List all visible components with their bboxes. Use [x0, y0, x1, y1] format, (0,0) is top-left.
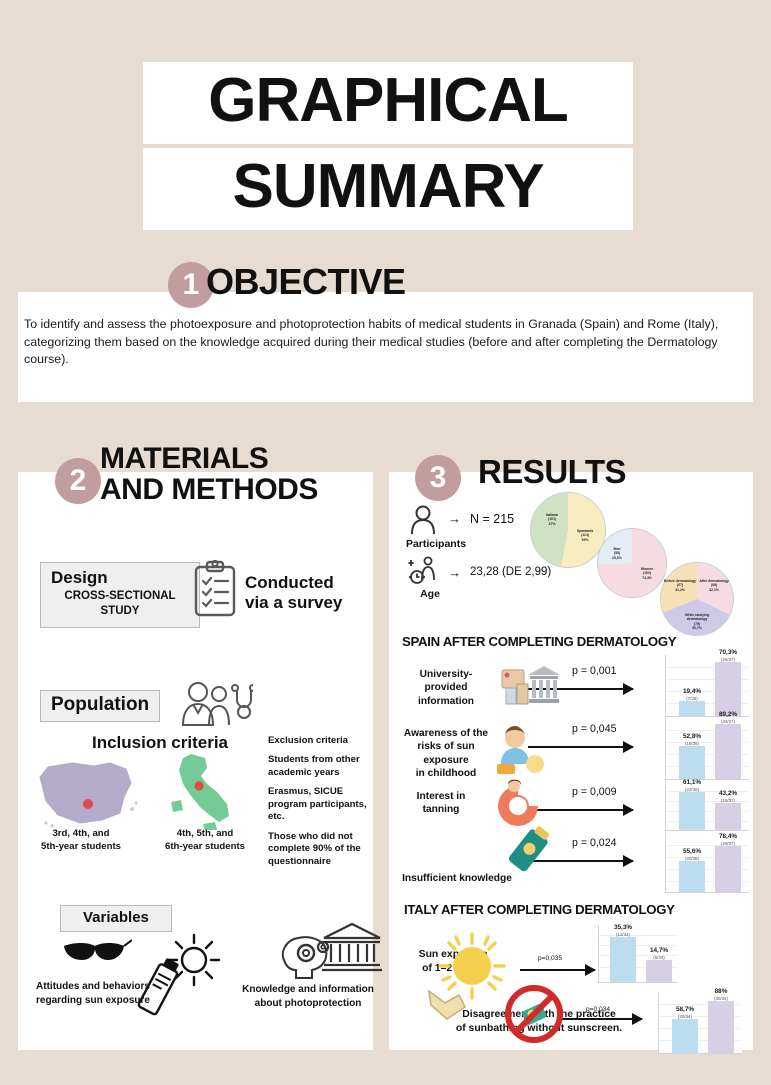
pie-slice-pct: 31,2%: [662, 588, 698, 592]
bar-value: 35,3%: [614, 924, 632, 931]
bar-value: 19,4%: [683, 688, 701, 695]
spain-results-title: SPAIN AFTER COMPLETING DERMATOLOGY: [402, 634, 676, 649]
arrow-icon: [520, 969, 595, 971]
sunglasses-icon: [62, 938, 132, 977]
participants-label: Participants: [396, 538, 476, 550]
variables-left-caption-line-1: Attitudes and behaviors: [18, 980, 168, 994]
university-books-icon: [500, 662, 562, 711]
spain-row-label-tanning: Interest in tanning: [398, 790, 484, 817]
design-chip-title: Design: [47, 568, 193, 588]
design-chip-sub-2: STUDY: [47, 604, 193, 618]
bar-before: 61,1% (22/36): [679, 792, 705, 830]
materials-heading-line-2: AND METHODS: [100, 474, 318, 505]
section-heading-objective: OBJECTIVE: [206, 261, 406, 303]
spain-caption: 3rd, 4th, and 5th-year students: [22, 828, 140, 854]
bar-chart-university-info: 19,4% (7/36) 70,3% (26/37): [665, 655, 749, 717]
p-value-italy-disagreement: p=0,034: [586, 1006, 610, 1013]
pie-slice-label: After dermatology (69) 32,1%: [697, 579, 731, 592]
bar-after: 89,2% (33/37): [715, 724, 741, 779]
spain-caption-line-2: 5th-year students: [22, 841, 140, 854]
label-line: University-: [398, 668, 494, 681]
sunscreen-tube-icon: [500, 826, 560, 885]
arrow-icon: [562, 1018, 642, 1020]
p-value-tanning: p = 0,009: [572, 786, 616, 798]
p-value-awareness: p = 0,045: [572, 723, 616, 735]
bar-chart-awareness: 52,8% (19/36) 89,2% (33/37): [665, 718, 749, 780]
label-line: provided: [398, 681, 494, 694]
exclusion-criteria-title: Exclusion criteria: [268, 735, 378, 747]
bar-count: (20/34): [678, 1014, 692, 1019]
pie-slice-pct: 32,1%: [697, 588, 731, 592]
bar-value: 58,7%: [676, 1006, 694, 1013]
participants-value: N = 215: [470, 512, 514, 526]
pie-slice-label: Spaniards (114) 53%: [569, 529, 601, 542]
italy-results-title: ITALY AFTER COMPLETING DERMATOLOGY: [404, 902, 675, 917]
exclusion-item: Erasmus, SICUE program participants, etc…: [268, 786, 378, 823]
bar-value: 43,2%: [719, 790, 737, 797]
italy-caption: 4th, 5th, and 6th-year students: [146, 828, 264, 854]
p-value-insufficient-knowledge: p = 0,024: [572, 837, 616, 849]
italy-map-icon: [155, 752, 247, 837]
pie-chart-sex: Men (55) 25,6% Women (160) 74,4%: [597, 528, 667, 598]
spain-row-label-awareness: Awareness of the risks of sun exposure i…: [396, 727, 496, 780]
bar-after: 70,3% (26/37): [715, 662, 741, 716]
pie-slice-pct: 47%: [537, 522, 567, 526]
italy-caption-line-1: 4th, 5th, and: [146, 828, 264, 841]
bar-before: 35,3% (12/34): [610, 937, 636, 982]
design-chip: Design CROSS-SECTIONAL STUDY: [40, 562, 200, 628]
p-value-university-info: p = 0,001: [572, 665, 616, 677]
bar-value: 14,7%: [650, 947, 668, 954]
bar-chart-tanning: 61,1% (22/36) 43,2% (16/37): [665, 781, 749, 831]
age-value: 23,28 (DE 2,99): [470, 566, 551, 578]
pie-slice-pct: 25,6%: [604, 556, 630, 560]
label-line: Interest in: [398, 790, 484, 803]
pie-slice-pct: 74,4%: [632, 576, 662, 580]
bar-count: (20/36): [685, 856, 699, 861]
graphical-summary-page: GRAPHICAL SUMMARY 1 OBJECTIVE To identif…: [0, 0, 771, 1085]
pie-slice-label: Before dermatology (67) 31,2%: [662, 579, 698, 592]
objective-body-text: To identify and assess the photoexposure…: [24, 316, 724, 369]
bar-count: (19/36): [685, 741, 699, 746]
bar-value: 89,2%: [719, 711, 737, 718]
pie-chart-dermatology-stage: After dermatology (69) 32,1% While study…: [660, 562, 734, 636]
population-chip: Population: [40, 690, 160, 722]
bar-count: (7/36): [686, 696, 697, 701]
variables-right-caption-line-1: Knowledge and information: [228, 983, 388, 997]
exclusion-item: Those who did not complete 90% of the qu…: [268, 831, 378, 868]
bar-after: 43,2% (16/37): [715, 803, 741, 830]
bar-before: 19,4% (7/36): [679, 701, 705, 716]
label-line: Awareness of the: [396, 727, 496, 740]
title-line-2: SUMMARY: [143, 148, 633, 230]
variables-right-caption: Knowledge and information about photopro…: [228, 983, 388, 1010]
bar-chart-italy-sun-exposure: 35,3% (12/34) 14,7% (5/34): [598, 925, 678, 983]
survey-line-1: Conducted: [245, 573, 365, 593]
spain-map-icon: [32, 757, 144, 834]
pie-slice-name: While studying dermatology: [677, 613, 717, 622]
bar-count: (29/37): [721, 841, 735, 846]
bar-before: 55,6% (20/36): [679, 861, 705, 892]
section-badge-2: 2: [55, 458, 101, 504]
age-clock-person-icon: [408, 556, 442, 591]
participant-person-icon: [410, 505, 436, 540]
design-chip-sub-1: CROSS-SECTIONAL: [47, 589, 193, 603]
pie-slice-label: While studying dermatology (79) 36,7%: [677, 613, 717, 631]
pie-slice-label: Men (55) 25,6%: [604, 547, 630, 560]
variables-right-caption-line-2: about photoprotection: [228, 997, 388, 1011]
bar-count: (5/34): [653, 955, 664, 960]
p-value-italy-sun-exposure: p=0,035: [538, 955, 562, 962]
section-heading-results: RESULTS: [478, 453, 626, 491]
exclusion-criteria-block: Exclusion criteria Students from other a…: [268, 735, 378, 875]
label-line: tanning: [398, 803, 484, 816]
spain-row-label-university-info: University- provided information: [398, 668, 494, 708]
bar-value: 55,6%: [683, 848, 701, 855]
bar-chart-italy-disagreement: 58,7% (20/34) 88% (30/34): [658, 992, 742, 1054]
bar-count: (12/34): [616, 932, 630, 937]
child-playing-sand-icon: [489, 722, 545, 783]
pie-slice-pct: 53%: [569, 538, 601, 542]
bar-count: (33/37): [721, 719, 735, 724]
poster-title: GRAPHICAL SUMMARY: [143, 62, 633, 230]
bar-after: 88% (30/34): [708, 1001, 734, 1053]
section-heading-materials: MATERIALS AND METHODS: [100, 443, 318, 505]
pie-slice-pct: 36,7%: [677, 626, 717, 630]
bar-count: (30/34): [714, 996, 728, 1001]
label-line: information: [398, 695, 494, 708]
label-line: in childhood: [396, 767, 496, 780]
variables-chip: Variables: [60, 905, 172, 932]
arrow-icon: →: [448, 511, 461, 526]
italy-caption-line-2: 6th-year students: [146, 841, 264, 854]
pie-slice-label: Women (160) 74,4%: [632, 567, 662, 580]
variables-left-caption-line-2: regarding sun exposure: [18, 994, 168, 1008]
bar-before: 58,7% (20/34): [672, 1019, 698, 1053]
bar-value: 61,1%: [683, 779, 701, 786]
bar-count: (16/37): [721, 798, 735, 803]
bar-after: 78,4% (29/37): [715, 846, 741, 892]
arrow-icon: →: [448, 565, 461, 580]
bar-count: (22/36): [685, 787, 699, 792]
title-line-1: GRAPHICAL: [143, 62, 633, 144]
bar-value: 88%: [715, 988, 728, 995]
bar-before: 52,8% (19/36): [679, 746, 705, 779]
university-building-icon: [322, 922, 382, 979]
bar-after: 14,7% (5/34): [646, 960, 672, 982]
bar-count: (26/37): [721, 657, 735, 662]
bar-chart-insufficient-knowledge: 55,6% (20/36) 78,4% (29/37): [665, 833, 749, 893]
section-badge-3: 3: [415, 455, 461, 501]
inclusion-criteria-title: Inclusion criteria: [60, 733, 260, 753]
materials-heading-line-1: MATERIALS: [100, 443, 318, 474]
survey-text: Conducted via a survey: [245, 573, 365, 612]
label-line: exposure: [396, 754, 496, 767]
spain-caption-line-1: 3rd, 4th, and: [22, 828, 140, 841]
pie-chart-nationality: Italiana (101) 47% Spaniards (114) 53%: [530, 492, 606, 568]
survey-line-2: via a survey: [245, 593, 365, 613]
label-line: risks of sun: [396, 740, 496, 753]
clipboard-checklist-icon: [192, 560, 238, 623]
bar-value: 78,4%: [719, 833, 737, 840]
bar-value: 52,8%: [683, 733, 701, 740]
bar-value: 70,3%: [719, 649, 737, 656]
no-sunscreen-prohibition-icon: [503, 983, 565, 1050]
people-stethoscope-icon: [175, 680, 253, 735]
clock-hands-icon: [425, 985, 469, 1040]
pie-slice-label: Italiana (101) 47%: [537, 513, 567, 526]
variables-left-caption: Attitudes and behaviors regarding sun ex…: [18, 980, 168, 1007]
exclusion-item: Students from other academic years: [268, 754, 378, 779]
age-label: Age: [400, 588, 460, 600]
